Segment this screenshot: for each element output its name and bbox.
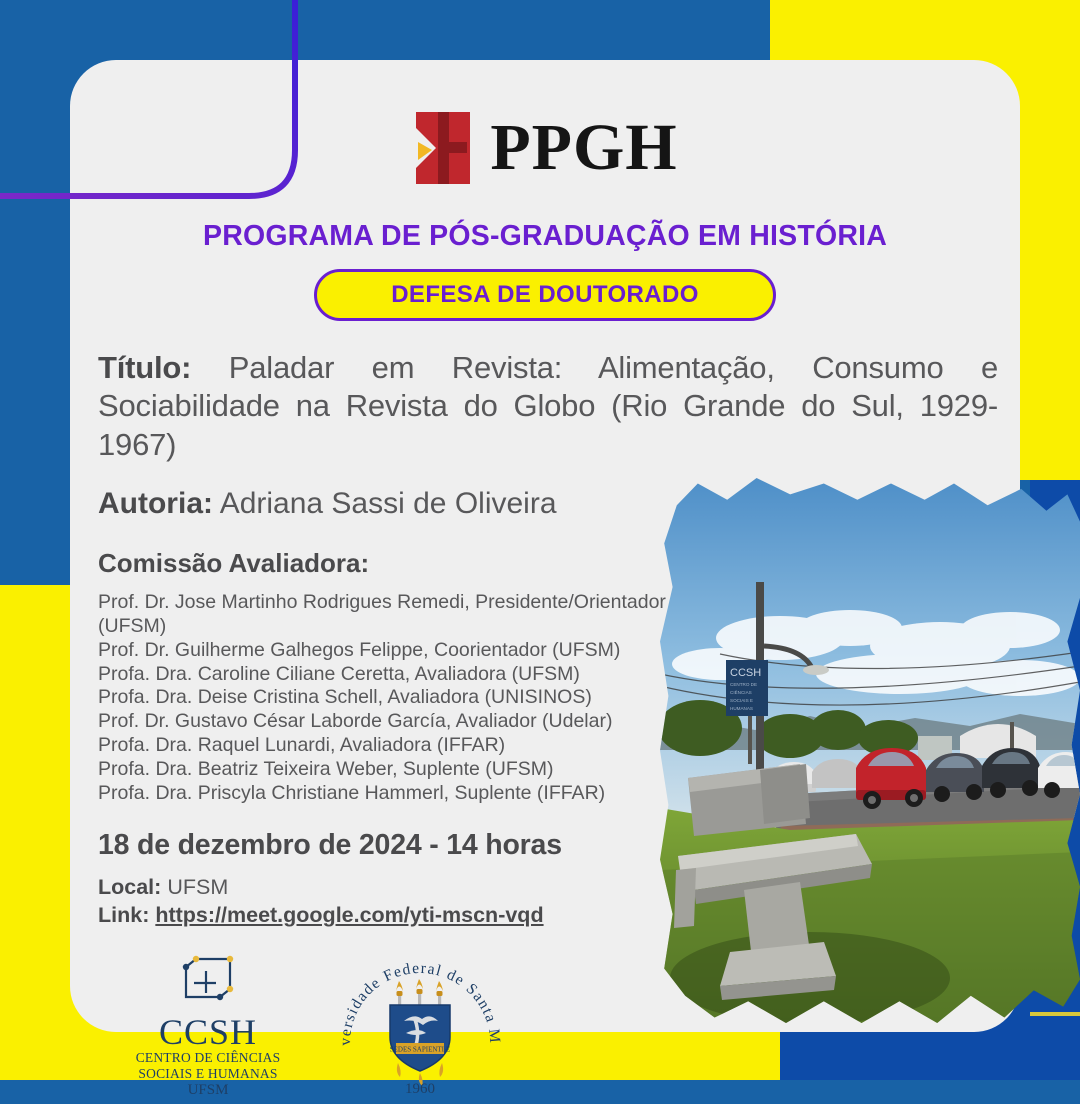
committee-member: Profa. Dra. Raquel Lunardi, Avaliadora (… <box>98 734 678 758</box>
defense-type-badge: DEFESA DE DOUTORADO <box>314 269 776 321</box>
location-label: Local: <box>98 875 161 899</box>
committee-member: Profa. Dra. Caroline Ciliane Ceretta, Av… <box>98 663 678 687</box>
committee-member: Prof. Dr. Guilherme Galhegos Felippe, Co… <box>98 639 678 663</box>
ppgh-logo: PPGH <box>70 60 1020 184</box>
author-label: Autoria: <box>98 487 213 520</box>
svg-text:SOCIAIS E: SOCIAIS E <box>730 698 753 703</box>
committee-member: Prof. Dr. Gustavo César Laborde García, … <box>98 710 678 734</box>
ppgh-monogram-icon <box>412 112 474 184</box>
committee-member: Profa. Dra. Deise Cristina Schell, Avali… <box>98 686 678 710</box>
committee-list: Prof. Dr. Jose Martinho Rodrigues Remedi… <box>98 591 678 805</box>
svg-text:HUMANAS: HUMANAS <box>730 706 753 711</box>
ufsm-seal-year: 1960 <box>405 1081 435 1097</box>
ufsm-seal-motto: SEDES SAPIENTIÆ <box>390 1046 450 1054</box>
thesis-title-text: Paladar em Revista: Alimentação, Consumo… <box>98 350 998 462</box>
committee-member: Profa. Dra. Priscyla Christiane Hammerl,… <box>98 782 678 806</box>
link-label: Link: <box>98 903 149 927</box>
ufsm-seal-logo: Universidade Federal de Santa Maria <box>334 959 506 1099</box>
thesis-title: Título: Paladar em Revista: Alimentação,… <box>98 349 998 464</box>
ccsh-line-1: CENTRO DE CIÊNCIAS <box>128 1050 288 1066</box>
photo-sign-ccsh: CCSH <box>730 667 761 679</box>
campus-photo: CCSH CENTRO DE CIÊNCIAS SOCIAIS E HUMANA… <box>660 478 1080 1023</box>
background-accent-tick <box>1030 1012 1080 1016</box>
ccsh-line-3: UFSM <box>128 1082 288 1099</box>
author-name: Adriana Sassi de Oliveira <box>220 487 557 520</box>
ccsh-line-2: SOCIAIS E HUMANAS <box>128 1066 288 1082</box>
ccsh-logo: CCSH CENTRO DE CIÊNCIAS SOCIAIS E HUMANA… <box>128 953 288 1099</box>
svg-text:CIÊNCIAS: CIÊNCIAS <box>730 688 752 695</box>
ccsh-acronym: CCSH <box>128 1014 288 1050</box>
committee-member: Prof. Dr. Jose Martinho Rodrigues Remedi… <box>98 591 678 639</box>
committee-member: Profa. Dra. Beatriz Teixeira Weber, Supl… <box>98 758 678 782</box>
thesis-title-label: Título: <box>98 350 191 385</box>
svg-text:CENTRO DE: CENTRO DE <box>730 682 757 687</box>
meet-link[interactable]: https://meet.google.com/yti-mscn-vqd <box>155 903 543 927</box>
location-value: UFSM <box>167 875 228 899</box>
program-title: PROGRAMA DE PÓS-GRADUAÇÃO EM HISTÓRIA <box>70 220 1020 253</box>
ppgh-wordmark: PPGH <box>490 115 677 181</box>
background-block-blue-left <box>0 0 80 585</box>
ccsh-grid-icon <box>172 953 244 1007</box>
